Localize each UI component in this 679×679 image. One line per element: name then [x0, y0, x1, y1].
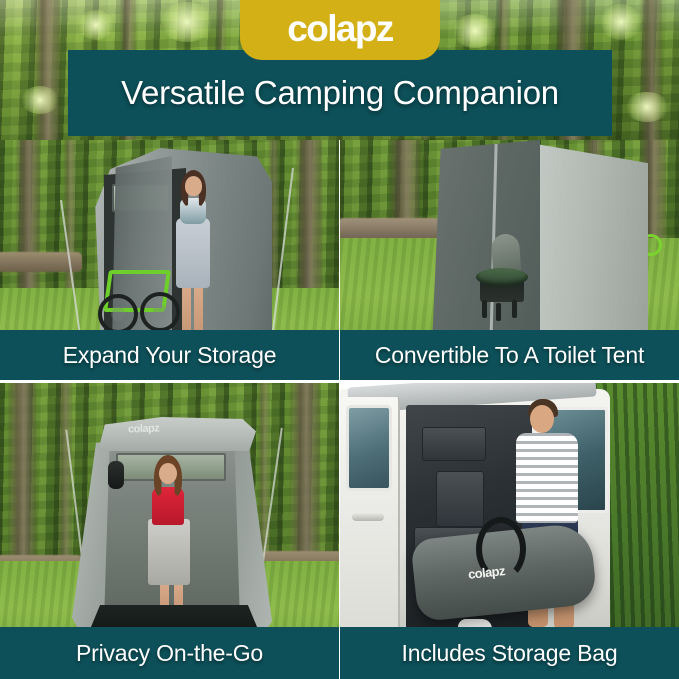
- feature-grid: Expand Your Storage: [0, 140, 679, 679]
- brand-logo-text: colapz: [287, 10, 393, 47]
- person-dress: [176, 218, 210, 288]
- person-head: [159, 463, 177, 484]
- caption-bar: Convertible To A Toilet Tent: [340, 330, 679, 380]
- feature-panel-privacy[interactable]: colapz Privacy On-the-Go: [0, 383, 339, 679]
- sunlight-fleck: [600, 4, 642, 40]
- sunlight-fleck: [624, 92, 670, 122]
- caption-bar: Privacy On-the-Go: [0, 627, 339, 679]
- tent-brand-logo: colapz: [128, 422, 160, 435]
- person-head: [185, 176, 202, 196]
- panel-caption: Privacy On-the-Go: [76, 640, 263, 667]
- toilet-tent-side-panel: [536, 144, 648, 356]
- bike-wheel: [98, 294, 138, 334]
- product-feature-poster: colapz ® Versatile Camping Companion: [0, 0, 679, 679]
- van-front-window: [346, 405, 392, 491]
- hanging-shower-bag: [108, 461, 124, 489]
- person-head: [530, 405, 554, 433]
- person-towel: [148, 519, 190, 585]
- tree-trunk: [64, 140, 76, 306]
- toilet-leg: [512, 300, 517, 318]
- fallen-log: [340, 218, 444, 240]
- sunlight-fleck: [20, 86, 60, 114]
- toilet-leg: [496, 303, 501, 321]
- sunlight-fleck: [78, 10, 114, 40]
- feature-panel-storage-bag[interactable]: colapz Includes Storage Bag: [340, 383, 679, 679]
- feature-panel-expand-storage[interactable]: Expand Your Storage: [0, 140, 339, 380]
- feature-panel-toilet-tent[interactable]: Convertible To A Toilet Tent: [340, 140, 679, 380]
- toilet-leg: [482, 300, 487, 318]
- panel-caption: Includes Storage Bag: [402, 640, 618, 667]
- caption-bar: Includes Storage Bag: [340, 627, 679, 679]
- person-striped-shirt: [516, 433, 578, 523]
- toilet-seat: [476, 268, 528, 286]
- van-interior-cabinet: [436, 471, 484, 527]
- sunlight-fleck: [160, 2, 214, 42]
- sunlight-fleck: [452, 14, 498, 48]
- tree-trunk: [58, 383, 72, 579]
- van-interior-cabinet: [422, 427, 486, 461]
- title-banner: Versatile Camping Companion: [68, 50, 612, 136]
- panel-caption: Expand Your Storage: [63, 342, 277, 369]
- bike-wheel: [140, 292, 180, 332]
- page-title: Versatile Camping Companion: [121, 74, 559, 112]
- tree-trunk: [34, 0, 60, 140]
- caption-bar: Expand Your Storage: [0, 330, 339, 380]
- van-door-handle[interactable]: [352, 513, 384, 521]
- panel-caption: Convertible To A Toilet Tent: [375, 342, 644, 369]
- poster-header: colapz ® Versatile Camping Companion: [0, 0, 679, 140]
- brand-logo-badge: colapz ®: [240, 0, 440, 60]
